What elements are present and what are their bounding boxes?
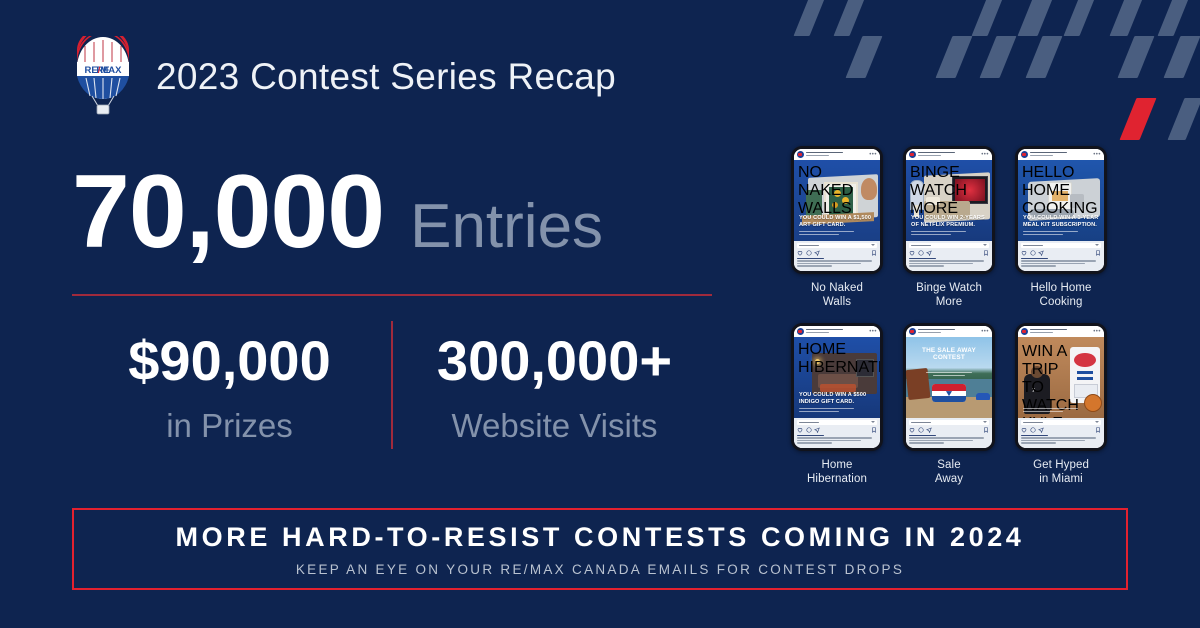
avatar bbox=[1021, 328, 1028, 335]
post-header: ••• bbox=[1018, 149, 1104, 160]
account-name bbox=[1030, 152, 1091, 157]
page-title: 2023 Contest Series Recap bbox=[156, 56, 616, 98]
account-name bbox=[806, 152, 867, 157]
phone-mockup: ••• BINGE WATCH MORE YOU COULD WIN 2-YEA… bbox=[903, 146, 995, 274]
phone-screen: ••• NO NAKED WALLS bbox=[794, 149, 880, 271]
avatar bbox=[797, 151, 804, 158]
post-actions bbox=[1021, 250, 1101, 256]
contest-caption: Sale Away bbox=[896, 458, 1002, 486]
contest-caption: Hello Home Cooking bbox=[1008, 281, 1114, 309]
heart-icon[interactable] bbox=[909, 427, 915, 433]
stripe bbox=[972, 0, 1005, 36]
art-rug bbox=[820, 384, 856, 392]
phone-screen: ••• HOME HIBERNATION YOU COULD WIN A $50… bbox=[794, 326, 880, 448]
post-header: ••• bbox=[906, 149, 992, 160]
bookmark-icon[interactable] bbox=[1095, 427, 1101, 433]
post-footer bbox=[794, 241, 880, 271]
post-actions bbox=[909, 250, 989, 256]
phone-screen: ••• BINGE WATCH MORE YOU COULD WIN 2-YEA… bbox=[906, 149, 992, 271]
bookmark-icon[interactable] bbox=[983, 427, 989, 433]
stripe bbox=[1118, 36, 1155, 78]
comment-icon[interactable] bbox=[918, 250, 924, 256]
download-bar[interactable] bbox=[797, 420, 877, 425]
more-options-icon[interactable]: ••• bbox=[981, 152, 989, 158]
phone-screen: ••• THE SALE AWAY CONTEST bbox=[906, 326, 992, 448]
remax-balloon-logo: RE X RE/MAX bbox=[72, 36, 134, 118]
stripe bbox=[1026, 36, 1063, 78]
phone-mockup: ••• NO NAKED WALLS bbox=[791, 146, 883, 274]
contest-card-home-hibernation[interactable]: ••• HOME HIBERNATION YOU COULD WIN A $50… bbox=[784, 323, 890, 486]
promo-banner-subtext: KEEP AN EYE ON YOUR RE/MAX CANADA EMAILS… bbox=[296, 562, 904, 577]
contest-caption: Get Hyped in Miami bbox=[1008, 458, 1114, 486]
contest-caption-line2: Away bbox=[896, 472, 1002, 486]
post-logo: HELLO HOME COOKING bbox=[1022, 164, 1104, 218]
post-finePrint bbox=[799, 408, 876, 413]
contest-caption-line2: Cooking bbox=[1008, 295, 1114, 309]
comment-icon[interactable] bbox=[1030, 250, 1036, 256]
contest-phone-grid: ••• NO NAKED WALLS bbox=[784, 146, 1114, 486]
download-bar[interactable] bbox=[909, 243, 989, 248]
balloon-icon: RE X RE/MAX bbox=[72, 36, 134, 118]
account-name bbox=[918, 329, 979, 334]
post-headline: YOU COULD WIN A 1-YEAR MEAL KIT SUBSCRIP… bbox=[1023, 215, 1100, 228]
post-header: ••• bbox=[1018, 326, 1104, 337]
contest-caption: No Naked Walls bbox=[784, 281, 890, 309]
comment-icon[interactable] bbox=[1030, 427, 1036, 433]
bookmark-icon[interactable] bbox=[1095, 250, 1101, 256]
post-actions bbox=[909, 427, 989, 433]
stat-visits-number: 300,000+ bbox=[397, 332, 712, 391]
download-bar[interactable] bbox=[1021, 420, 1101, 425]
stat-visits: 300,000+ Website Visits bbox=[397, 320, 712, 450]
promo-banner: MORE HARD-TO-RESIST CONTESTS COMING IN 2… bbox=[72, 508, 1128, 590]
stat-prizes: $90,000 in Prizes bbox=[72, 320, 387, 450]
stripe bbox=[1164, 36, 1200, 78]
download-bar[interactable] bbox=[1021, 243, 1101, 248]
more-options-icon[interactable]: ••• bbox=[981, 329, 989, 335]
share-icon[interactable] bbox=[926, 427, 932, 433]
bookmark-icon[interactable] bbox=[983, 250, 989, 256]
stripe bbox=[1064, 0, 1097, 36]
heart-icon[interactable] bbox=[797, 250, 803, 256]
post-headline: YOU COULD WIN A $1,500 ART GIFT CARD. bbox=[799, 215, 876, 228]
infographic-canvas: RE X RE/MAX 2023 Contest Series Recap 70… bbox=[0, 0, 1200, 628]
account-name bbox=[918, 152, 979, 157]
heart-icon[interactable] bbox=[909, 250, 915, 256]
phone-mockup: ••• THE SALE AWAY CONTEST bbox=[903, 323, 995, 451]
comment-icon[interactable] bbox=[806, 250, 812, 256]
horizontal-divider bbox=[72, 294, 712, 296]
post-finePrint bbox=[920, 372, 978, 378]
account-name bbox=[1030, 329, 1091, 334]
contest-card-no-naked-walls[interactable]: ••• NO NAKED WALLS bbox=[784, 146, 890, 309]
contest-card-get-hyped-in-miami[interactable]: ••• 7 WIN A bbox=[1008, 323, 1114, 486]
heart-icon[interactable] bbox=[1021, 250, 1027, 256]
contest-caption: Binge Watch More bbox=[896, 281, 1002, 309]
avatar bbox=[909, 328, 916, 335]
contest-caption-line1: No Naked bbox=[784, 281, 890, 295]
contest-caption-line2: More bbox=[896, 295, 1002, 309]
avatar bbox=[909, 151, 916, 158]
headline-stat-number: 70,000 bbox=[72, 160, 384, 264]
post-headline: THE SALE AWAY CONTEST bbox=[906, 347, 992, 362]
stripe bbox=[846, 36, 883, 78]
contest-caption-line1: Get Hyped bbox=[1008, 458, 1114, 472]
contest-card-binge-watch-more[interactable]: ••• BINGE WATCH MORE YOU COULD WIN 2-YEA… bbox=[896, 146, 1002, 309]
stat-prizes-label: in Prizes bbox=[72, 401, 387, 451]
post-finePrint bbox=[1023, 408, 1100, 413]
post-headline: YOU COULD WIN A $500 INDIGO GIFT CARD. bbox=[799, 392, 876, 405]
account-name bbox=[806, 329, 867, 334]
share-icon[interactable] bbox=[814, 250, 820, 256]
more-options-icon[interactable]: ••• bbox=[869, 329, 877, 335]
stripe bbox=[1018, 0, 1055, 36]
stripe bbox=[980, 36, 1017, 78]
heart-icon[interactable] bbox=[1021, 427, 1027, 433]
contest-caption-line1: Home bbox=[784, 458, 890, 472]
contest-card-sale-away[interactable]: ••• THE SALE AWAY CONTEST bbox=[896, 323, 1002, 486]
download-bar[interactable] bbox=[797, 243, 877, 248]
post-media: BINGE WATCH MORE YOU COULD WIN 2-YEARS O… bbox=[906, 160, 992, 241]
bookmark-icon[interactable] bbox=[871, 250, 877, 256]
post-finePrint bbox=[1023, 231, 1100, 236]
share-icon[interactable] bbox=[926, 250, 932, 256]
comment-icon[interactable] bbox=[918, 427, 924, 433]
contest-caption: Home Hibernation bbox=[784, 458, 890, 486]
stat-visits-label: Website Visits bbox=[397, 401, 712, 451]
comment-icon[interactable] bbox=[806, 427, 812, 433]
stripe bbox=[936, 36, 973, 78]
more-options-icon[interactable]: ••• bbox=[1093, 329, 1101, 335]
share-icon[interactable] bbox=[814, 427, 820, 433]
post-headline: YOU COULD WIN 2-YEARS OF NETFLIX PREMIUM… bbox=[911, 215, 988, 228]
post-media: HOME HIBERNATION YOU COULD WIN A $500 IN… bbox=[794, 337, 880, 418]
post-actions bbox=[797, 427, 877, 433]
art-cooler bbox=[932, 384, 966, 402]
post-footer bbox=[1018, 241, 1104, 271]
stripe-accent bbox=[1120, 98, 1157, 140]
avatar bbox=[797, 328, 804, 335]
stripe bbox=[834, 0, 867, 36]
phone-mockup: ••• HOME HIBERNATION YOU COULD WIN A $50… bbox=[791, 323, 883, 451]
heart-icon[interactable] bbox=[797, 427, 803, 433]
bookmark-icon[interactable] bbox=[871, 427, 877, 433]
phone-mockup: ••• 7 WIN A bbox=[1015, 323, 1107, 451]
post-footer bbox=[1018, 418, 1104, 448]
contest-caption-line2: Walls bbox=[784, 295, 890, 309]
post-media: HELLO HOME COOKING YOU COULD WIN A 1-YEA… bbox=[1018, 160, 1104, 241]
phone-screen: ••• HELLO HOME COOKING YOU COULD WIN A 1… bbox=[1018, 149, 1104, 271]
post-logo: NO NAKED WALLS bbox=[798, 164, 880, 218]
avatar bbox=[1021, 151, 1028, 158]
phone-screen: ••• 7 WIN A bbox=[1018, 326, 1104, 448]
contest-caption-line1: Binge Watch bbox=[896, 281, 1002, 295]
phone-mockup: ••• HELLO HOME COOKING YOU COULD WIN A 1… bbox=[1015, 146, 1107, 274]
vertical-divider bbox=[391, 321, 393, 449]
post-logo: BINGE WATCH MORE bbox=[910, 164, 992, 218]
post-finePrint bbox=[911, 231, 988, 236]
post-finePrint bbox=[799, 231, 876, 236]
secondary-stats: $90,000 in Prizes 300,000+ Website Visit… bbox=[72, 320, 712, 450]
stripe bbox=[1110, 0, 1145, 36]
contest-caption-line2: in Miami bbox=[1008, 472, 1114, 486]
post-footer bbox=[906, 418, 992, 448]
stripe bbox=[1158, 0, 1191, 36]
post-logo: HOME HIBERNATION bbox=[798, 341, 880, 377]
post-media: THE SALE AWAY CONTEST bbox=[906, 337, 992, 418]
post-media: 7 WIN A TRIP TO WATCH KYLE LOWRY PLAY IN… bbox=[1018, 337, 1104, 418]
post-media: NO NAKED WALLS YOU COULD WIN A $1,500 AR… bbox=[794, 160, 880, 241]
stat-prizes-number: $90,000 bbox=[72, 332, 387, 391]
post-footer bbox=[906, 241, 992, 271]
post-headline: WIN A TRIP TO WATCH KYLE LOWRY PLAY IN H… bbox=[1022, 343, 1068, 418]
svg-text:RE/MAX: RE/MAX bbox=[85, 65, 123, 76]
more-options-icon[interactable]: ••• bbox=[869, 152, 877, 158]
contest-caption-line1: Hello Home bbox=[1008, 281, 1114, 295]
header: RE X RE/MAX 2023 Contest Series Recap bbox=[72, 36, 616, 118]
post-header: ••• bbox=[794, 149, 880, 160]
post-header: ••• bbox=[794, 326, 880, 337]
contest-card-hello-home-cooking[interactable]: ••• HELLO HOME COOKING YOU COULD WIN A 1… bbox=[1008, 146, 1114, 309]
headline-stat: 70,000 Entries bbox=[72, 160, 603, 264]
decorative-stripes bbox=[780, 0, 1200, 150]
contest-caption-line1: Sale bbox=[896, 458, 1002, 472]
more-options-icon[interactable]: ••• bbox=[1093, 152, 1101, 158]
post-header: ••• bbox=[906, 326, 992, 337]
promo-banner-headline: MORE HARD-TO-RESIST CONTESTS COMING IN 2… bbox=[176, 522, 1025, 553]
art-car bbox=[976, 393, 990, 400]
stripe bbox=[794, 0, 827, 36]
post-actions bbox=[797, 250, 877, 256]
post-footer bbox=[794, 418, 880, 448]
share-icon[interactable] bbox=[1038, 427, 1044, 433]
headline-stat-label: Entries bbox=[410, 196, 603, 258]
contest-caption-line2: Hibernation bbox=[784, 472, 890, 486]
stripe bbox=[1168, 98, 1200, 140]
download-bar[interactable] bbox=[909, 420, 989, 425]
share-icon[interactable] bbox=[1038, 250, 1044, 256]
post-actions bbox=[1021, 427, 1101, 433]
